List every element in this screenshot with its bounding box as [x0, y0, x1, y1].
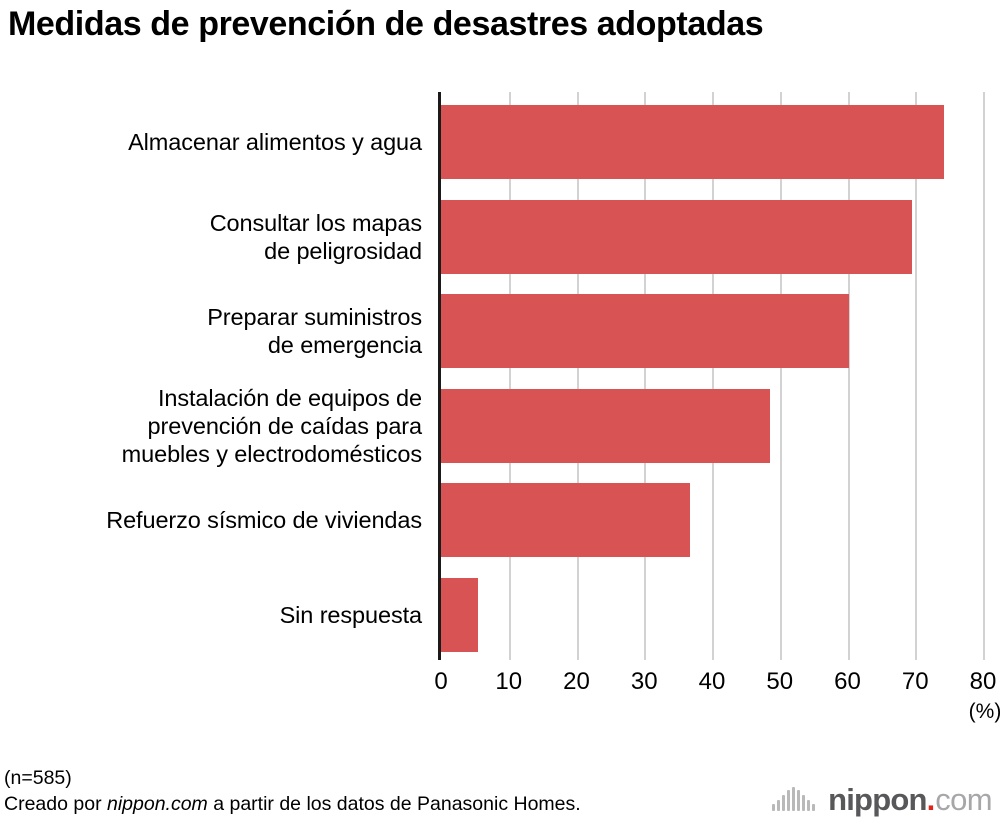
category-label-line: Almacenar alimentos y agua [2, 128, 422, 156]
category-label: Sin respuesta [2, 601, 422, 629]
x-tick-label: 40 [682, 668, 742, 696]
credit-source-name: nippon.com [107, 793, 208, 815]
logo-tld: com [935, 784, 992, 815]
bar[interactable] [441, 294, 849, 368]
category-label-line: Instalación de equipos de [2, 384, 422, 412]
category-label: Preparar suministrosde emergencia [2, 303, 422, 359]
bar[interactable] [441, 578, 478, 652]
chart-footnote: (n=585) Creado por nippon.com a partir d… [4, 765, 581, 817]
x-tick-label: 60 [818, 668, 878, 696]
credit-line: Creado por nippon.com a partir de los da… [4, 791, 581, 817]
category-label: Almacenar alimentos y agua [2, 128, 422, 156]
x-tick-label: 10 [479, 668, 539, 696]
bar[interactable] [441, 483, 690, 557]
credit-suffix: a partir de los datos de Panasonic Homes… [208, 793, 581, 815]
category-label-line: Sin respuesta [2, 601, 422, 629]
category-label-line: Consultar los mapas [2, 209, 422, 237]
category-label-line: Refuerzo sísmico de viviendas [2, 506, 422, 534]
bar[interactable] [441, 200, 912, 274]
logo-wordmark: nippon [828, 784, 927, 815]
credit-prefix: Creado por [4, 793, 107, 815]
bars-and-gridlines [441, 92, 986, 660]
x-tick-label: 80 [953, 668, 1000, 696]
category-label: Consultar los mapasde peligrosidad [2, 209, 422, 265]
x-tick-label: 0 [411, 668, 471, 696]
category-label: Refuerzo sísmico de viviendas [2, 506, 422, 534]
category-label-line: Preparar suministros [2, 303, 422, 331]
x-tick-label: 50 [750, 668, 810, 696]
bar[interactable] [441, 389, 770, 463]
category-label: Instalación de equipos deprevención de c… [2, 384, 422, 468]
category-label-line: de emergencia [2, 331, 422, 359]
sample-size-note: (n=585) [4, 765, 581, 791]
gridline-80 [983, 92, 985, 660]
chart-title: Medidas de prevención de desastres adopt… [8, 6, 763, 43]
chart-plot-area: Almacenar alimentos y aguaConsultar los … [0, 92, 1000, 667]
category-label-line: muebles y electrodomésticos [2, 440, 422, 468]
nippon-com-logo[interactable]: nippon . com [772, 781, 992, 817]
x-axis-unit-label: (%) [955, 700, 1000, 724]
x-tick-label: 70 [885, 668, 945, 696]
x-tick-label: 20 [547, 668, 607, 696]
category-label-line: prevención de caídas para [2, 412, 422, 440]
category-label-line: de peligrosidad [2, 237, 422, 265]
logo-dot: . [927, 784, 936, 815]
x-tick-label: 30 [614, 668, 674, 696]
x-axis-ticks: 01020304050607080 [0, 668, 1000, 702]
bar[interactable] [441, 105, 944, 179]
soundwave-icon [772, 787, 817, 811]
category-axis-labels: Almacenar alimentos y aguaConsultar los … [0, 92, 432, 652]
